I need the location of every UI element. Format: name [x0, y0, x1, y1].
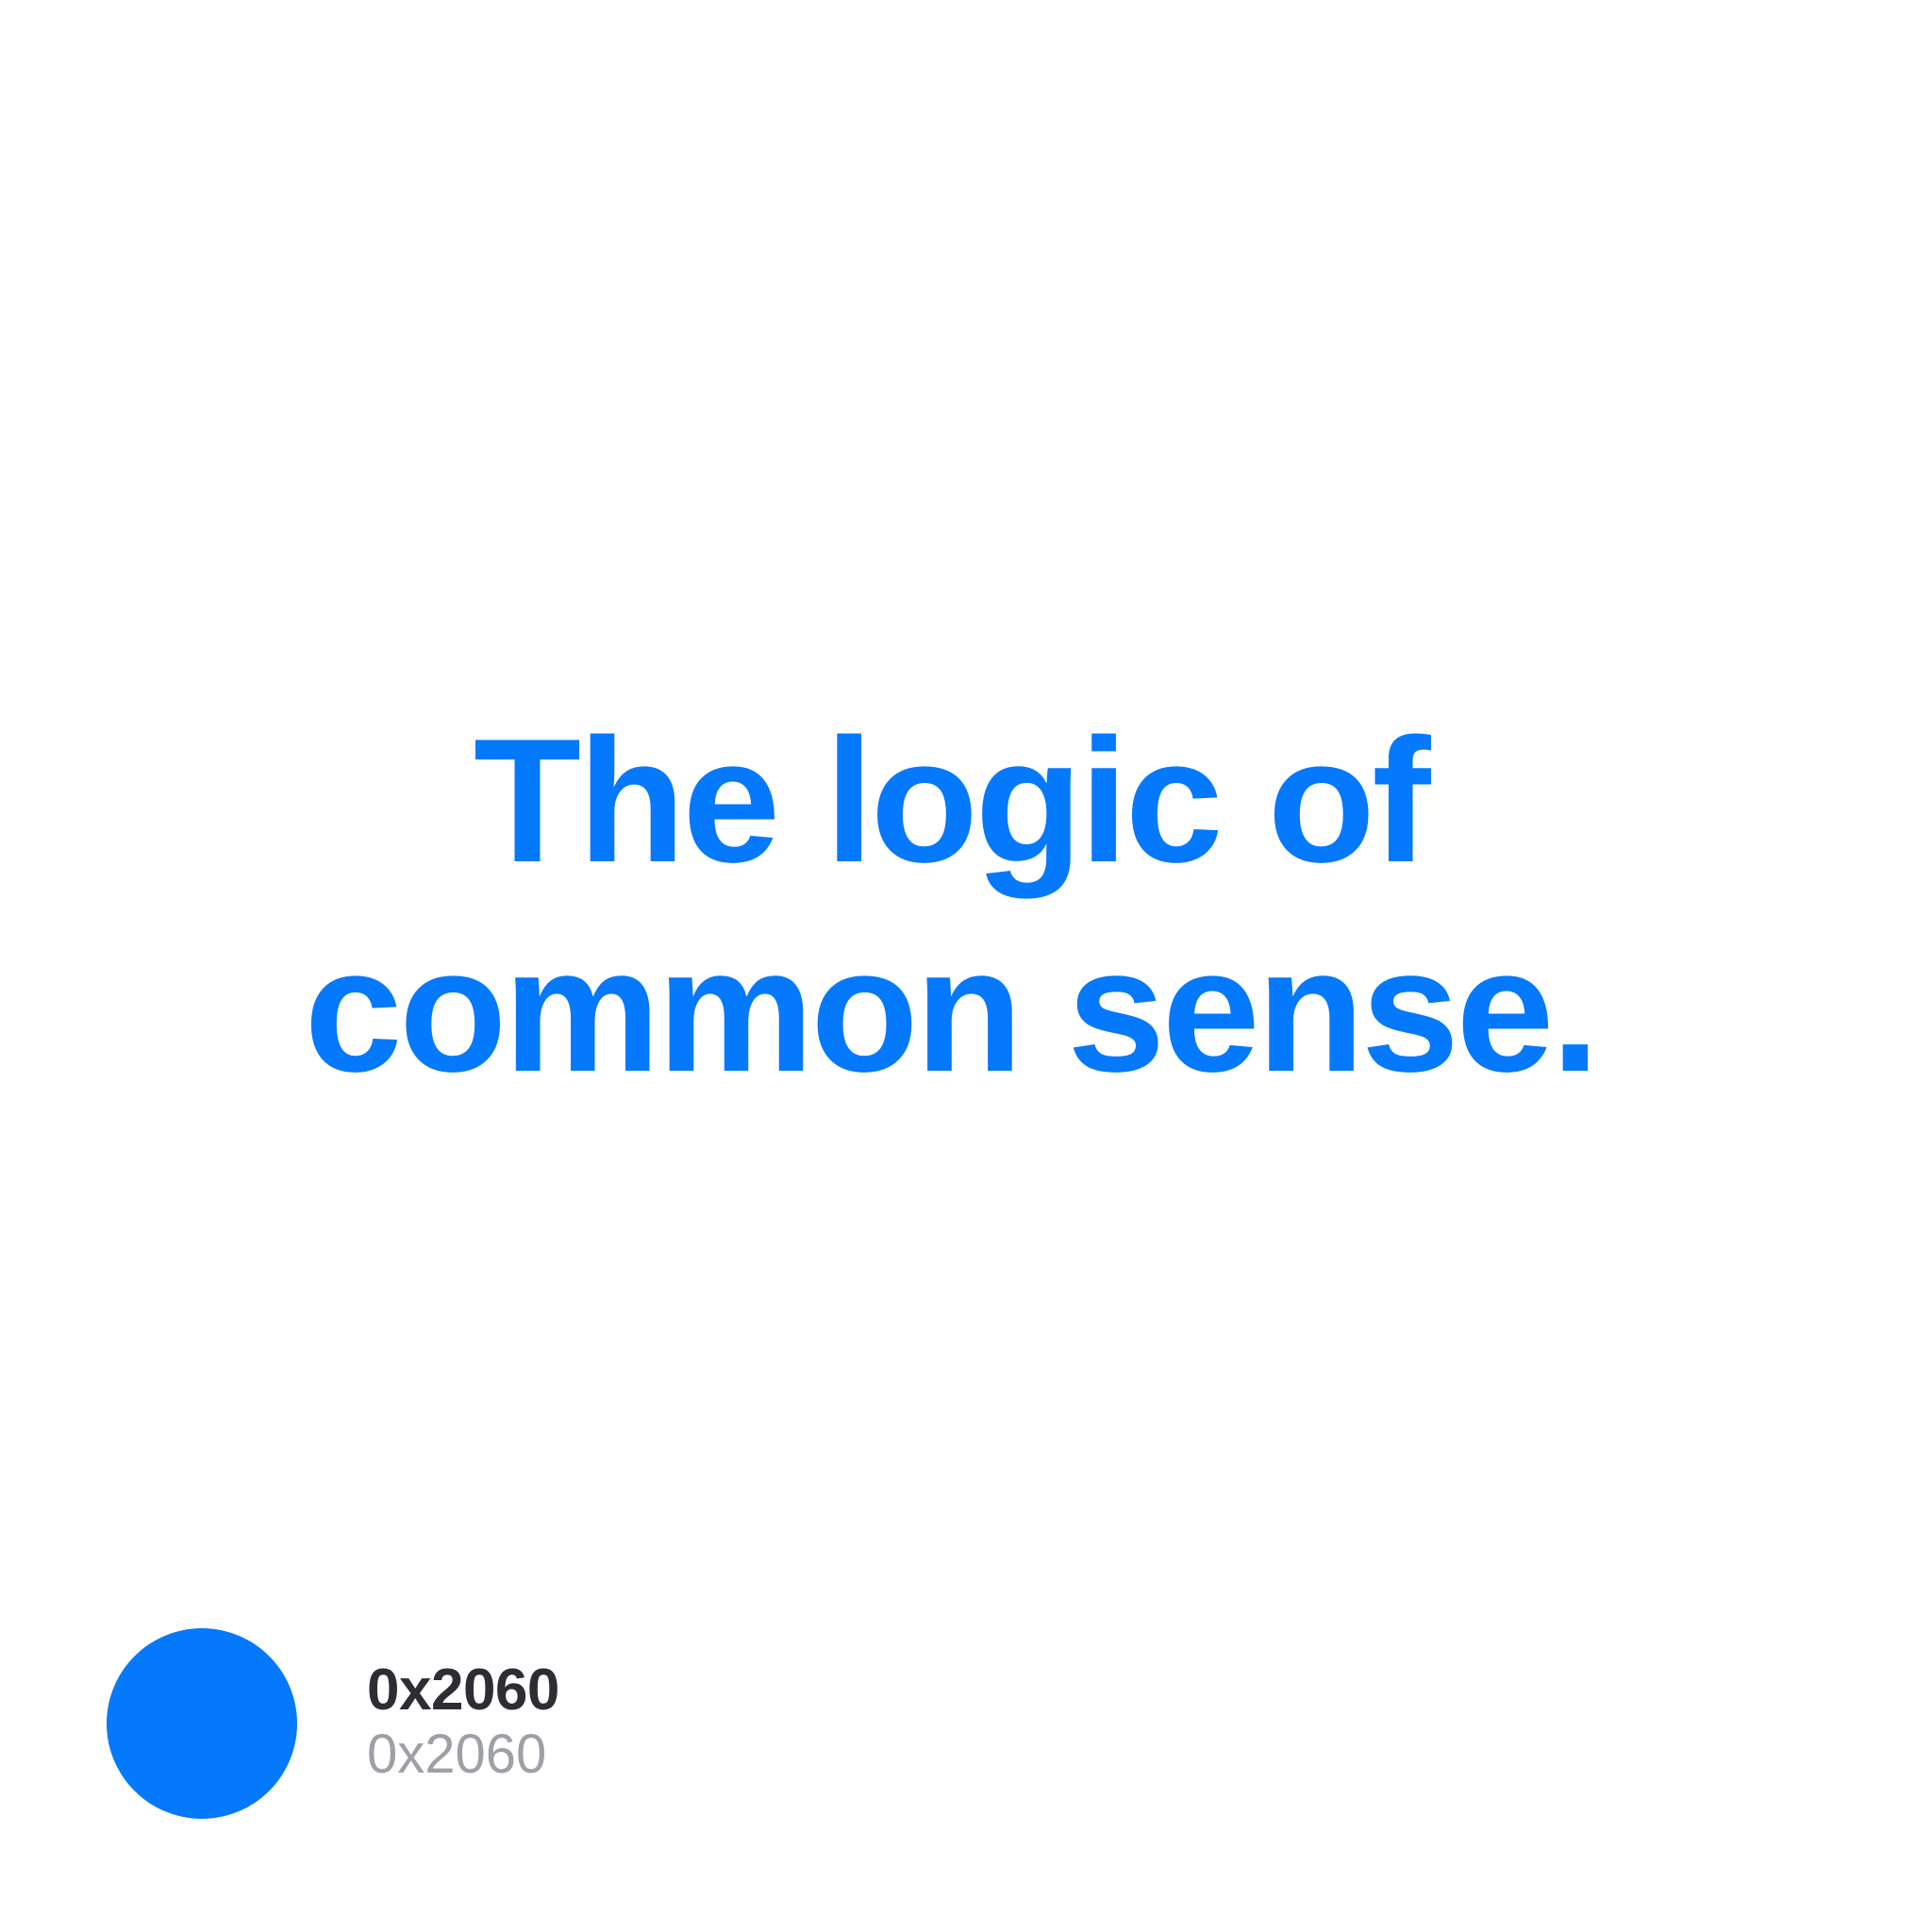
avatar-circle-icon	[107, 1628, 297, 1819]
attribution-text: 0x2060 0x2060	[367, 1659, 559, 1788]
author-handle: 0x2060	[367, 1726, 559, 1784]
quote-text: The logic of common sense.	[99, 696, 1802, 1115]
author-name: 0x2060	[367, 1659, 559, 1721]
attribution-block: 0x2060 0x2060	[107, 1628, 559, 1819]
quote-block: The logic of common sense.	[99, 696, 1802, 1115]
quote-card: The logic of common sense. 0x2060 0x2060	[0, 0, 1932, 1932]
